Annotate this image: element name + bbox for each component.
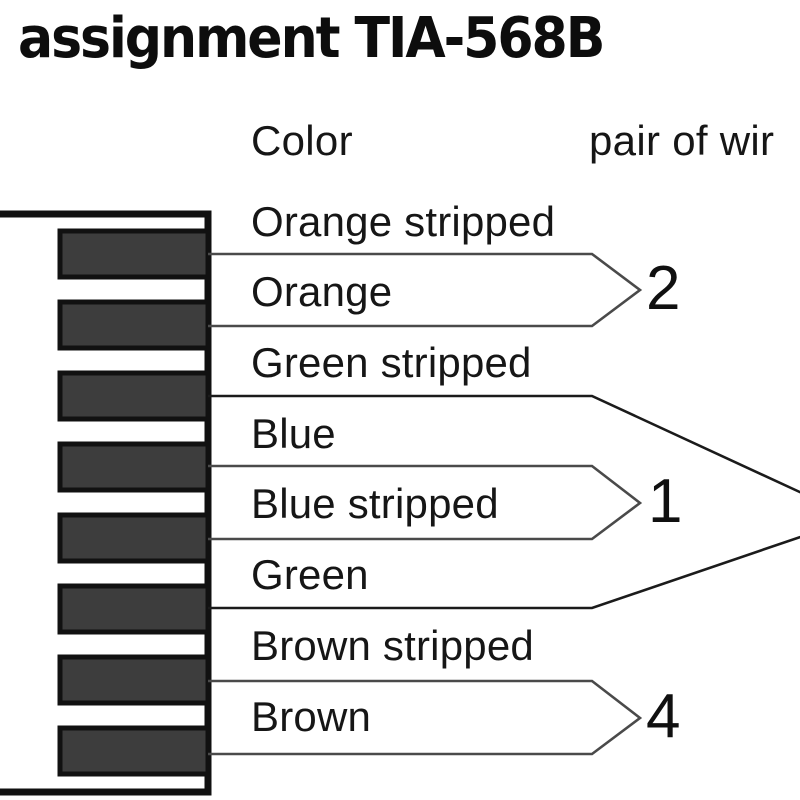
wire-label-pin-1: Orange stripped [251, 199, 555, 245]
connector-pin-2 [60, 302, 208, 348]
connector-pins [60, 231, 208, 774]
connector-outline [0, 214, 208, 792]
connector-pin-1 [60, 231, 208, 277]
connector-pin-8 [60, 728, 208, 774]
connector-pin-6 [60, 586, 208, 632]
column-header-pair-of-wires: pair of wir [589, 118, 774, 164]
wire-label-pin-8: Brown [251, 694, 371, 740]
wire-label-pin-5: Blue stripped [251, 481, 499, 527]
wire-label-pin-4: Blue [251, 411, 336, 457]
page-title: assignment TIA-568B [18, 6, 603, 72]
wire-label-pin-3: Green stripped [251, 340, 532, 386]
column-header-color: Color [251, 118, 353, 164]
pair-number-2: 2 [646, 258, 680, 320]
pair-number-1: 1 [648, 471, 682, 533]
wire-label-pin-6: Green [251, 552, 369, 598]
connector-pin-5 [60, 515, 208, 561]
connector-pin-7 [60, 657, 208, 703]
diagram-canvas: assignment TIA-568B Color pair of wir Or… [0, 0, 800, 800]
wire-label-pin-7: Brown stripped [251, 623, 534, 669]
pair-number-4: 4 [646, 686, 680, 748]
connector-pin-3 [60, 373, 208, 419]
wire-label-pin-2: Orange [251, 269, 392, 315]
rj45-connector-body [0, 214, 208, 792]
connector-pin-4 [60, 444, 208, 490]
